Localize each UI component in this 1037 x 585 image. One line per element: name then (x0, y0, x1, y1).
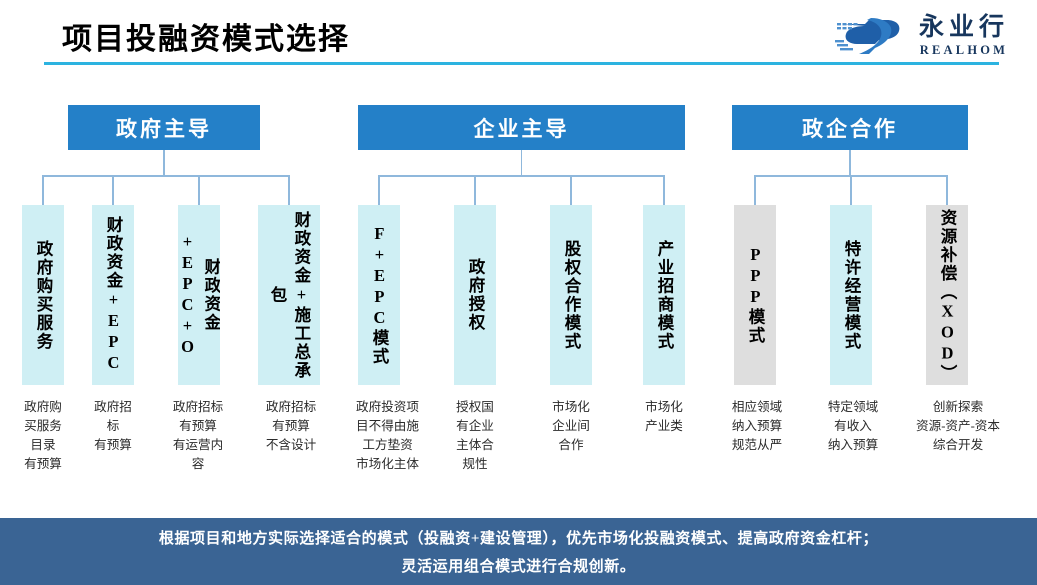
caption-line: 授权国 (441, 398, 509, 417)
caption-line: 政府招标 (250, 398, 332, 417)
connector-stem-gov-enterprise-coop (849, 150, 851, 175)
title-underline-rule (44, 62, 999, 65)
caption-line: 政府购 (8, 398, 78, 417)
mode-box-label: 财政资金+EPC+O (178, 209, 220, 381)
caption-line: 规性 (441, 455, 509, 474)
caption-line: 有运营内 (157, 436, 239, 455)
caption-line: 创新探索 (908, 398, 1008, 417)
group-header-enterprise-led[interactable]: 企业主导 (358, 105, 685, 150)
connector-stem-enterprise-led (521, 150, 523, 175)
mode-caption-ppp-mode: 相应领域纳入预算规范从严 (717, 398, 797, 455)
mode-caption-fiscal-construction-gc: 政府招标有预算不含设计 (250, 398, 332, 455)
mode-box-label: 产业招商模式 (652, 240, 676, 351)
caption-line: 市场化主体 (340, 455, 435, 474)
slide-canvas: 项目投融资模式选择 永业行 REALHOM 政府主导政府购买服务政府购买服务目录… (0, 0, 1037, 585)
logo-wordmark: 永业行 REALHOM (919, 15, 1009, 57)
caption-line: 工方垫资 (340, 436, 435, 455)
connector-bus-enterprise-led (379, 175, 664, 177)
mode-caption-gov-authorization: 授权国有企业主体合规性 (441, 398, 509, 474)
mode-caption-industry-investment: 市场化产业类 (630, 398, 698, 436)
connector-drop-equity-cooperation (570, 175, 572, 205)
caption-line: 市场化 (630, 398, 698, 417)
connector-drop-franchise-operation (850, 175, 852, 205)
caption-line: 纳入预算 (717, 417, 797, 436)
group-header-government-led[interactable]: 政府主导 (68, 105, 260, 150)
banner-line-1: 根据项目和地方实际选择适合的模式（投融资+建设管理），优先市场化投融资模式、提高… (159, 527, 878, 548)
connector-drop-industry-investment (663, 175, 665, 205)
caption-line: 不含设计 (250, 436, 332, 455)
connector-drop-f-epc-mode (378, 175, 380, 205)
mode-box-label: 政府授权 (463, 258, 487, 332)
summary-banner: 根据项目和地方实际选择适合的模式（投融资+建设管理），优先市场化投融资模式、提高… (0, 518, 1037, 585)
caption-line: 特定领域 (813, 398, 893, 417)
mode-box-gov-authorization[interactable]: 政府授权 (454, 205, 496, 385)
caption-line: 综合开发 (908, 436, 1008, 455)
mode-box-gov-purchase-service[interactable]: 政府购买服务 (22, 205, 64, 385)
mode-box-label: 财政资金+EPC (101, 216, 125, 374)
caption-line: 容 (157, 455, 239, 474)
mode-caption-fiscal-epc: 政府招标有预算 (79, 398, 147, 455)
mode-box-label: F+EPC模式 (367, 224, 391, 366)
mode-box-label: 财政资金+施工总承包 (265, 209, 313, 381)
caption-line: 有企业 (441, 417, 509, 436)
connector-drop-gov-authorization (474, 175, 476, 205)
connector-drop-fiscal-construction-gc (288, 175, 290, 205)
mode-box-fiscal-construction-gc[interactable]: 财政资金+施工总承包 (258, 205, 320, 385)
company-logo: 永业行 REALHOM (835, 10, 1009, 62)
connector-bus-government-led (43, 175, 289, 177)
mode-caption-fiscal-epc-o: 政府招标有预算有运营内容 (157, 398, 239, 474)
banner-line-2: 灵活运用组合模式进行合规创新。 (401, 555, 635, 576)
caption-line: 标 (79, 417, 147, 436)
caption-line: 相应领域 (717, 398, 797, 417)
mode-box-fiscal-epc[interactable]: 财政资金+EPC (92, 205, 134, 385)
mode-box-label: 特许经营模式 (839, 240, 863, 351)
mode-box-label: 资源补偿（XOD） (935, 209, 959, 381)
connector-drop-fiscal-epc-o (198, 175, 200, 205)
caption-line: 主体合 (441, 436, 509, 455)
caption-line: 资源-资产-资本 (908, 417, 1008, 436)
mode-caption-gov-purchase-service: 政府购买服务目录有预算 (8, 398, 78, 474)
mode-caption-equity-cooperation: 市场化企业间合作 (537, 398, 605, 455)
mode-box-label: PPP模式 (743, 245, 767, 345)
caption-line: 政府招 (79, 398, 147, 417)
caption-line: 企业间 (537, 417, 605, 436)
mode-box-f-epc-mode[interactable]: F+EPC模式 (358, 205, 400, 385)
mode-box-resource-compensation-xod[interactable]: 资源补偿（XOD） (926, 205, 968, 385)
caption-line: 产业类 (630, 417, 698, 436)
caption-line: 有预算 (157, 417, 239, 436)
mode-box-label: 政府购买服务 (31, 240, 55, 351)
mode-box-franchise-operation[interactable]: 特许经营模式 (830, 205, 872, 385)
mode-caption-franchise-operation: 特定领域有收入纳入预算 (813, 398, 893, 455)
mode-caption-resource-compensation-xod: 创新探索资源-资产-资本综合开发 (908, 398, 1008, 455)
caption-line: 目录 (8, 436, 78, 455)
caption-line: 有预算 (250, 417, 332, 436)
caption-line: 纳入预算 (813, 436, 893, 455)
connector-drop-gov-purchase-service (42, 175, 44, 205)
page-title: 项目投融资模式选择 (62, 14, 350, 58)
group-header-gov-enterprise-coop[interactable]: 政企合作 (732, 105, 968, 150)
caption-line: 政府招标 (157, 398, 239, 417)
mode-box-industry-investment[interactable]: 产业招商模式 (643, 205, 685, 385)
mode-box-label: 股权合作模式 (559, 240, 583, 351)
mode-box-ppp-mode[interactable]: PPP模式 (734, 205, 776, 385)
yh-monogram-icon (835, 14, 909, 58)
logo-chinese-name: 永业行 (919, 15, 1009, 40)
caption-line: 有预算 (8, 455, 78, 474)
connector-drop-fiscal-epc (112, 175, 114, 205)
caption-line: 有预算 (79, 436, 147, 455)
connector-stem-government-led (163, 150, 165, 175)
group-header-label: 政企合作 (802, 113, 898, 143)
group-header-label: 企业主导 (474, 113, 570, 143)
connector-drop-resource-compensation-xod (946, 175, 948, 205)
caption-line: 政府投资项 (340, 398, 435, 417)
caption-line: 市场化 (537, 398, 605, 417)
mode-box-equity-cooperation[interactable]: 股权合作模式 (550, 205, 592, 385)
caption-line: 有收入 (813, 417, 893, 436)
mode-caption-f-epc-mode: 政府投资项目不得由施工方垫资市场化主体 (340, 398, 435, 474)
caption-line: 规范从严 (717, 436, 797, 455)
caption-line: 目不得由施 (340, 417, 435, 436)
connector-drop-ppp-mode (754, 175, 756, 205)
logo-english-name: REALHOM (920, 44, 1008, 57)
mode-box-fiscal-epc-o[interactable]: 财政资金+EPC+O (178, 205, 220, 385)
caption-line: 合作 (537, 436, 605, 455)
caption-line: 买服务 (8, 417, 78, 436)
group-header-label: 政府主导 (116, 113, 212, 143)
